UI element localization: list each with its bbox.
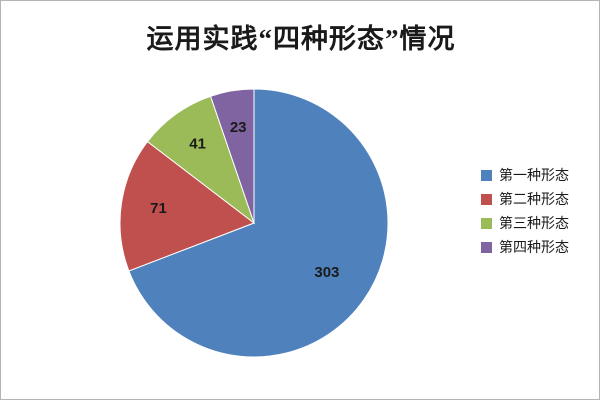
pie-slice-value-label: 41 [189,136,206,153]
pie-chart-svg: 303714123 [119,87,389,359]
legend-swatch-3 [481,218,492,229]
pie-slice-value-label: 71 [150,200,167,217]
legend-swatch-1 [481,170,492,181]
legend-swatch-4 [481,242,492,253]
legend-item-3[interactable]: 第三种形态 [481,212,589,234]
pie-slice-value-label: 303 [314,264,339,281]
legend-label-3: 第三种形态 [499,213,569,233]
chart-container: 运用实践“四种形态”情况 303714123 第一种形态 第二种形态 第三种形态… [0,0,600,400]
legend-item-4[interactable]: 第四种形态 [481,236,589,258]
pie-plot-area: 303714123 [119,87,389,359]
legend-label-4: 第四种形态 [499,237,569,257]
legend-label-2: 第二种形态 [499,189,569,209]
legend-swatch-2 [481,194,492,205]
legend-label-1: 第一种形态 [499,165,569,185]
chart-title: 运用实践“四种形态”情况 [1,17,600,56]
legend-item-1[interactable]: 第一种形态 [481,164,589,186]
legend-item-2[interactable]: 第二种形态 [481,188,589,210]
chart-legend: 第一种形态 第二种形态 第三种形态 第四种形态 [481,164,589,260]
pie-slice-value-label: 23 [230,119,247,136]
pie-slice-group [120,89,388,357]
